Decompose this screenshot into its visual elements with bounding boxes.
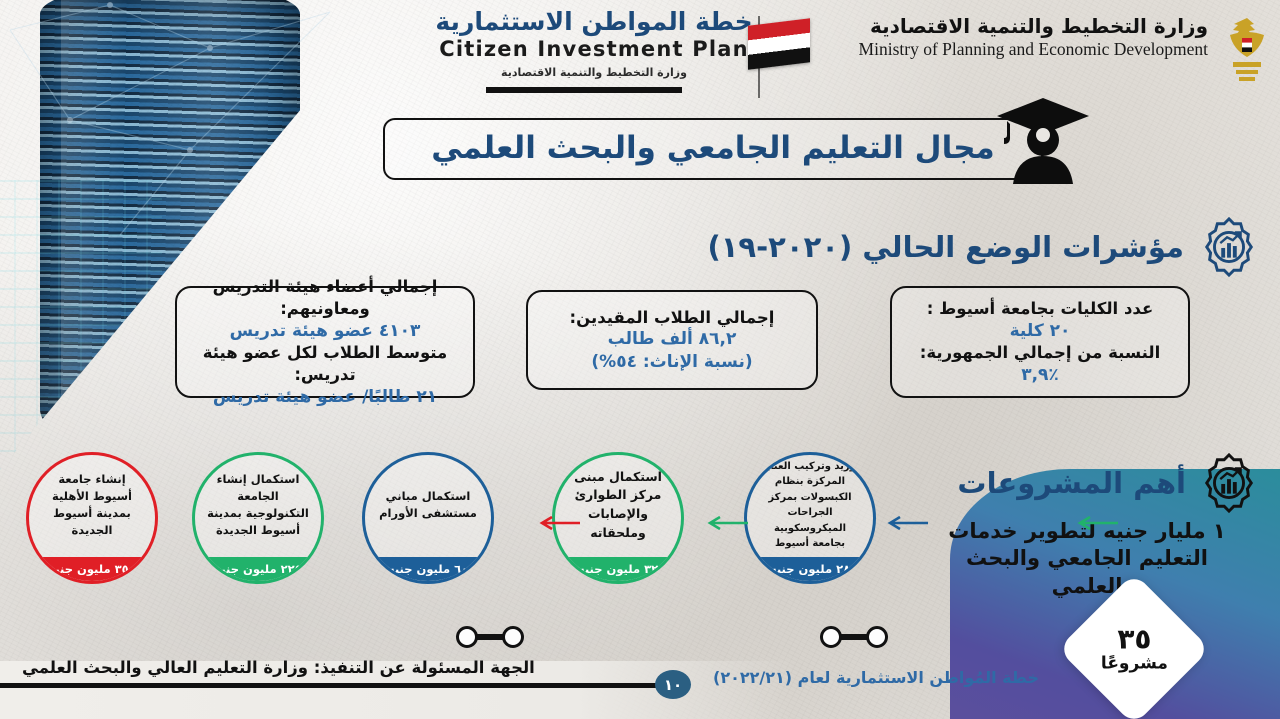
- indicator-card-students: إجمالي الطلاب المقيدين: ٨٦,٢ ألف طالب (ن…: [526, 290, 818, 390]
- project-cost: ٦٠ مليون جنيه: [365, 557, 491, 581]
- indicator-label-secondary: النسبة من إجمالي الجمهورية:: [920, 342, 1160, 364]
- gear-chart-icon: [1198, 216, 1260, 278]
- projects-total-amount: ١ مليار جنيه لتطوير خدمات التعليم الجامع…: [930, 518, 1260, 600]
- project-circle-oncology-hospital: استكمال مباني مستشفى الأورام ٦٠ مليون جن…: [362, 452, 494, 584]
- indicator-value-secondary: ٢١ طالبًا/ عضو هيئة تدريس: [213, 386, 437, 408]
- footer-divider: [0, 683, 690, 688]
- projects-section-title: أهم المشروعات: [957, 466, 1186, 500]
- projects-count-label: مشروعًا: [1101, 654, 1168, 674]
- project-cost: ٢٨ مليون جنيه: [747, 557, 873, 581]
- connector-colleges-students: [820, 626, 888, 648]
- indicator-card-staff: إجمالي أعضاء هيئة التدريس ومعاونيهم: ٤١٠…: [175, 286, 475, 398]
- arrow-icon-1: [534, 516, 580, 530]
- indicators-section-title: مؤشرات الوضع الحالي (٢٠٢٠-١٩): [707, 230, 1184, 264]
- indicators-section-header: مؤشرات الوضع الحالي (٢٠٢٠-١٩): [707, 216, 1260, 278]
- projects-count-number: ٣٥: [1101, 624, 1168, 653]
- ministry-block: وزارة التخطيط والتنمية الاقتصادية Minist…: [788, 14, 1208, 60]
- project-cost: ٣٢ مليون جنيه: [555, 557, 681, 581]
- graduate-student-icon: [991, 94, 1095, 186]
- connector-dot: [456, 626, 478, 648]
- title-frame: مجال التعليم الجامعي والبحث العلمي: [383, 118, 1043, 180]
- ministry-name-english: Ministry of Planning and Economic Develo…: [788, 39, 1208, 60]
- page-title-text: مجال التعليم الجامعي والبحث العلمي: [431, 130, 995, 169]
- connector-students-staff: [456, 626, 524, 648]
- infographic-page: خطة المواطن الاستثمارية Citizen Investme…: [0, 0, 1280, 719]
- ministry-name-arabic: وزارة التخطيط والتنمية الاقتصادية: [788, 14, 1208, 39]
- project-title: إنشاء جامعة أسيوط الأهلية بمدينة أسيوط ا…: [29, 471, 155, 566]
- project-cost: ٣٥٠ مليون جنيه: [29, 557, 155, 581]
- arrow-icon-3: [882, 516, 928, 530]
- citizen-investment-plan-logo: خطة المواطن الاستثمارية Citizen Investme…: [434, 8, 754, 79]
- connector-dot: [866, 626, 888, 648]
- arrow-icon-4: [1072, 516, 1118, 530]
- indicator-label: إجمالي أعضاء هيئة التدريس ومعاونيهم:: [189, 276, 461, 320]
- project-title: استكمال إنشاء الجامعة التكنولوجية بمدينة…: [195, 471, 321, 566]
- responsible-entity-text: الجهة المسئولة عن التنفيذ: وزارة التعليم…: [22, 658, 535, 677]
- page-title: مجال التعليم الجامعي والبحث العلمي: [383, 118, 1043, 180]
- logo-frame: [460, 16, 760, 98]
- indicators-row: عدد الكليات بجامعة أسيوط : ٢٠ كلية النسب…: [0, 286, 1280, 411]
- project-circle-icu-capsules-microsurgery: توريد وتركيب العناية المركزة بنظام الكبس…: [744, 452, 876, 584]
- page-header: خطة المواطن الاستثمارية Citizen Investme…: [0, 0, 1280, 100]
- plan-year-text: خطة المُواطن الاستثمارية لعام (٢٠٢٢/٢١): [713, 668, 1039, 687]
- indicator-label: إجمالي الطلاب المقيدين:: [570, 307, 775, 329]
- egypt-eagle-emblem-icon: [1222, 14, 1272, 86]
- project-title: استكمال مباني مستشفى الأورام: [365, 488, 491, 549]
- indicator-value: ٢٠ كلية: [1010, 320, 1071, 342]
- project-cost: ٢٢٥ مليون جنيه: [195, 557, 321, 581]
- connector-dot: [502, 626, 524, 648]
- project-circle-assiut-national-university: إنشاء جامعة أسيوط الأهلية بمدينة أسيوط ا…: [26, 452, 158, 584]
- indicator-value-secondary: ٪٣,٩: [1021, 364, 1059, 386]
- indicator-label-secondary: (نسبة الإناث: ٥٤%): [591, 351, 752, 373]
- indicator-label: عدد الكليات بجامعة أسيوط :: [927, 298, 1153, 320]
- gear-chart-icon: [1198, 452, 1260, 514]
- indicator-value: ٨٦,٢ ألف طالب: [608, 328, 737, 350]
- connector-dot: [820, 626, 842, 648]
- page-number-badge: ١٠: [655, 670, 691, 699]
- indicator-value: ٤١٠٣ عضو هيئة تدريس: [230, 320, 421, 342]
- arrow-icon-2: [702, 516, 748, 530]
- indicator-label-secondary: متوسط الطلاب لكل عضو هيئة تدريس:: [189, 342, 461, 386]
- logo-underline: [486, 87, 682, 93]
- indicator-card-colleges: عدد الكليات بجامعة أسيوط : ٢٠ كلية النسب…: [890, 286, 1190, 398]
- projects-row: إنشاء جامعة أسيوط الأهلية بمدينة أسيوط ا…: [0, 452, 900, 592]
- project-circle-technological-university: استكمال إنشاء الجامعة التكنولوجية بمدينة…: [192, 452, 324, 584]
